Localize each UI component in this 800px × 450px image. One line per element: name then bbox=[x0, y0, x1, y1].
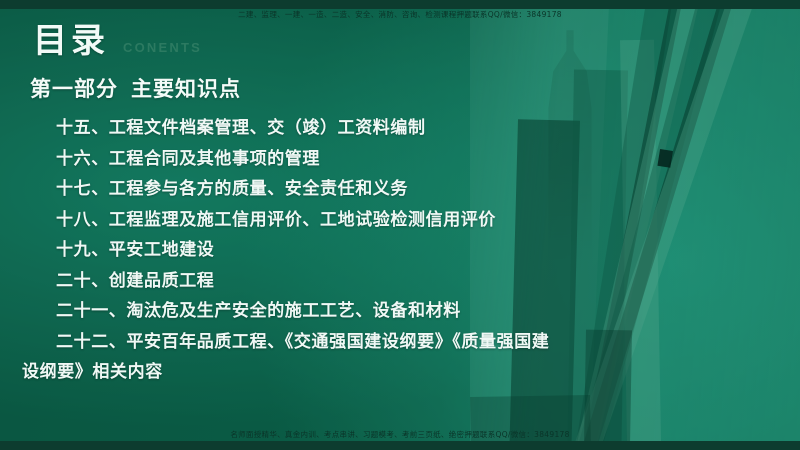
bottom-watermark-text: 名师面授精华、真金内训、考点串讲、习题模考、考前三页纸、绝密押题联系QQ/微信：… bbox=[0, 430, 800, 440]
toc-item[interactable]: 二十二、平安百年品质工程、《交通强国建设纲要》《质量强国建设纲要》相关内容 bbox=[22, 327, 552, 388]
slide-root: 二建、监理、一建、一造、二造、安全、消防、咨询、检测课程押题联系QQ/微信：38… bbox=[0, 0, 800, 450]
page-title: 目录 bbox=[33, 24, 109, 58]
toc-item[interactable]: 十五、工程文件档案管理、交（竣）工资料编制 bbox=[22, 113, 550, 144]
top-letterbox-bar bbox=[0, 0, 800, 9]
top-watermark-text: 二建、监理、一建、一造、二造、安全、消防、咨询、检测课程押题联系QQ/微信：38… bbox=[0, 10, 800, 20]
section-heading: 第一部分主要知识点 bbox=[30, 73, 241, 103]
table-of-contents: 十五、工程文件档案管理、交（竣）工资料编制 十六、工程合同及其他事项的管理 十七… bbox=[22, 113, 550, 388]
toc-item[interactable]: 十八、工程监理及施工信用评价、工地试验检测信用评价 bbox=[22, 205, 552, 236]
bottom-letterbox-bar bbox=[0, 441, 800, 450]
slide-content: 目录 CONENTS 第一部分主要知识点 十五、工程文件档案管理、交（竣）工资料… bbox=[0, 0, 800, 450]
slide-title-group: 目录 CONENTS bbox=[33, 24, 202, 58]
toc-item[interactable]: 二十一、淘汰危及生产安全的施工工艺、设备和材料 bbox=[22, 296, 550, 327]
toc-item[interactable]: 十九、平安工地建设 bbox=[22, 235, 550, 266]
toc-item[interactable]: 二十、创建品质工程 bbox=[22, 266, 550, 297]
page-title-english: CONENTS bbox=[123, 40, 202, 58]
section-heading-prefix: 第一部分 bbox=[30, 78, 118, 101]
toc-item[interactable]: 十六、工程合同及其他事项的管理 bbox=[22, 144, 550, 175]
section-heading-name: 主要知识点 bbox=[131, 78, 241, 101]
toc-item[interactable]: 十七、工程参与各方的质量、安全责任和义务 bbox=[22, 174, 550, 205]
